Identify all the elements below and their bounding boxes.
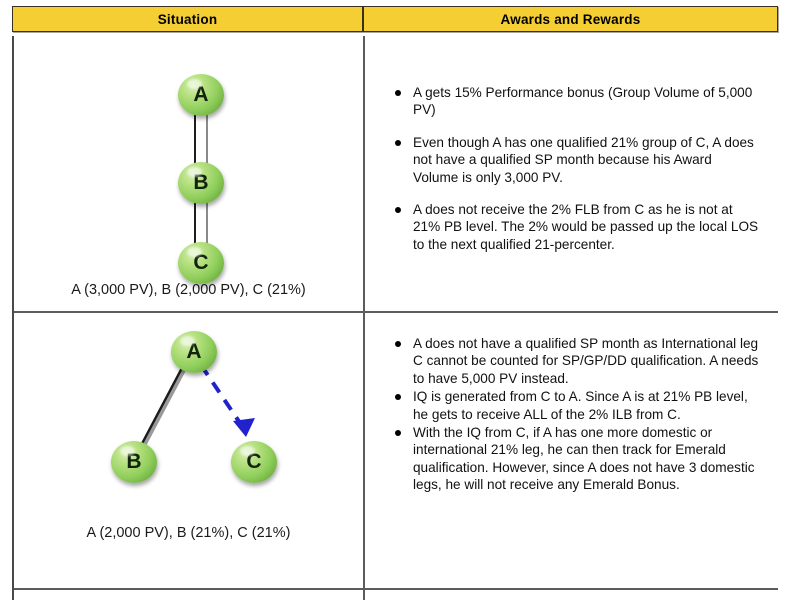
list-item: IQ is generated from C to A. Since A is … — [393, 388, 759, 423]
list-item: A does not have a qualified SP month as … — [393, 335, 759, 387]
link-a-c-dashed — [201, 365, 242, 426]
table-row: A B C A (2,000 PV), B (21%), C (21%) A d… — [14, 313, 778, 590]
table-row-partial — [14, 590, 778, 600]
column-header-awards: Awards and Rewards — [363, 6, 778, 32]
list-item: A gets 15% Performance bonus (Group Volu… — [393, 84, 759, 119]
table-row: A B C A (3,000 PV), B (2,000 PV), C (21%… — [14, 36, 778, 313]
column-header-awards-label: Awards and Rewards — [501, 12, 641, 27]
node-b-label: B — [193, 171, 208, 195]
network-diagram-1: A B C — [14, 36, 363, 311]
list-item: Even though A has one qualified 21% grou… — [393, 134, 759, 186]
awards-bullet-list: A gets 15% Performance bonus (Group Volu… — [393, 84, 759, 268]
node-c: C — [178, 242, 224, 284]
link-a-b-solid — [136, 366, 183, 455]
node-a: A — [171, 331, 217, 373]
awards-cell: A does not have a qualified SP month as … — [365, 313, 778, 588]
awards-cell — [365, 590, 778, 600]
awards-bullet-list: A does not have a qualified SP month as … — [393, 335, 759, 495]
node-a: A — [178, 74, 224, 116]
node-c: C — [231, 441, 277, 483]
situation-cell — [14, 590, 365, 600]
link-a-c-arrowhead — [233, 418, 255, 437]
network-diagram-2: A B C — [14, 313, 363, 588]
situation-cell: A B C A (3,000 PV), B (2,000 PV), C (21%… — [14, 36, 365, 311]
table-header-row: Situation Awards and Rewards — [12, 6, 778, 32]
node-a-label: A — [193, 83, 208, 107]
node-a-label: A — [186, 340, 201, 364]
page-root: Situation Awards and Rewards A B — [0, 0, 790, 600]
node-b: B — [178, 162, 224, 204]
situations-table: A B C A (3,000 PV), B (2,000 PV), C (21%… — [12, 36, 778, 600]
list-item: A does not receive the 2% FLB from C as … — [393, 201, 759, 253]
node-c-label: C — [193, 251, 208, 275]
column-header-situation-label: Situation — [158, 12, 218, 27]
node-b: B — [111, 441, 157, 483]
situation-caption: A (3,000 PV), B (2,000 PV), C (21%) — [14, 282, 363, 298]
column-header-situation: Situation — [12, 6, 363, 32]
node-b-label: B — [126, 450, 141, 474]
list-item: With the IQ from C, if A has one more do… — [393, 424, 759, 494]
awards-cell: A gets 15% Performance bonus (Group Volu… — [365, 36, 778, 311]
situation-cell: A B C A (2,000 PV), B (21%), C (21%) — [14, 313, 365, 588]
situation-caption: A (2,000 PV), B (21%), C (21%) — [14, 525, 363, 541]
node-c-label: C — [246, 450, 261, 474]
